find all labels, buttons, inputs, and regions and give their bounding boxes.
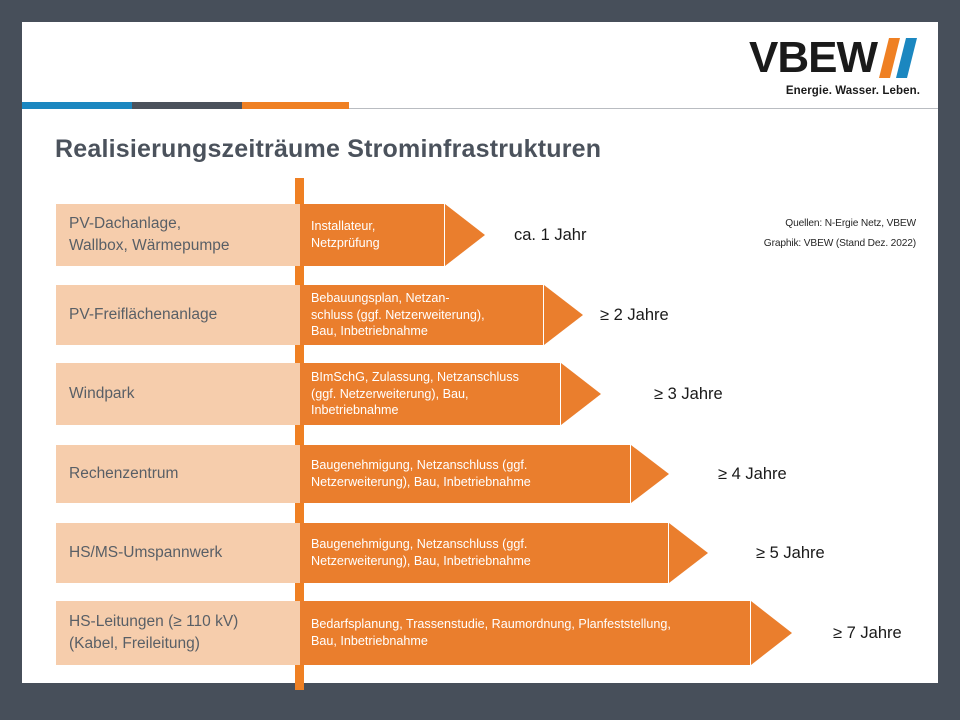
- slide-frame: VBEW Energie. Wasser. Leben. Realisierun…: [0, 0, 960, 720]
- row-duration-hs-leitungen: ≥ 7 Jahre: [833, 601, 902, 665]
- row-duration-pv-dachanlage: ca. 1 Jahr: [514, 204, 586, 266]
- row-arrow-hs-ms-umspannwerk: Baugenehmigung, Netzanschluss (ggf. Netz…: [300, 523, 668, 583]
- row-arrow-pv-dachanlage: Installateur, Netzprüfung: [300, 204, 444, 266]
- row-duration-windpark: ≥ 3 Jahre: [654, 363, 723, 425]
- arrow-step-line-3: Bau, Inbetriebnahme: [311, 323, 485, 340]
- row-label-pv-freiflaechenanlage: PV-Freiflächenanlage: [56, 285, 300, 345]
- arrow-step-line-2: (ggf. Netzerweiterung), Bau,: [311, 386, 519, 403]
- arrow-step-line-1: BImSchG, Zulassung, Netzanschluss: [311, 369, 519, 386]
- arrow-step-line-2: Netzerweiterung), Bau, Inbetriebnahme: [311, 474, 531, 491]
- row-duration-pv-freiflaechenanlage: ≥ 2 Jahre: [600, 285, 669, 345]
- row-label-rechenzentrum: Rechenzentrum: [56, 445, 300, 503]
- row-arrow-pv-freiflaechenanlage: Bebauungsplan, Netzan- schluss (ggf. Net…: [300, 285, 543, 345]
- row-label-pv-dachanlage: PV-Dachanlage, Wallbox, Wärmepumpe: [56, 204, 300, 266]
- row-label-line-1: Windpark: [69, 383, 134, 405]
- source-line-1: Quellen: N-Ergie Netz, VBEW: [596, 214, 916, 234]
- timeline-row: PV-Freiflächenanlage Bebauungsplan, Netz…: [22, 285, 938, 345]
- row-arrow-hs-leitungen: Bedarfsplanung, Trassenstudie, Raumordnu…: [300, 601, 750, 665]
- arrow-head-icon: [561, 363, 601, 425]
- arrow-head-icon: [631, 445, 669, 503]
- row-label-line-2: Wallbox, Wärmepumpe: [69, 235, 230, 257]
- source-note: Quellen: N-Ergie Netz, VBEW Graphik: VBE…: [596, 214, 916, 254]
- row-label-line-1: HS-Leitungen (≥ 110 kV): [69, 611, 238, 633]
- row-label-hs-leitungen: HS-Leitungen (≥ 110 kV) (Kabel, Freileit…: [56, 601, 300, 665]
- arrow-step-line-1: Bebauungsplan, Netzan-: [311, 290, 485, 307]
- timeline-diagram: PV-Dachanlage, Wallbox, Wärmepumpe Insta…: [22, 22, 938, 683]
- timeline-row: HS-Leitungen (≥ 110 kV) (Kabel, Freileit…: [22, 601, 938, 665]
- arrow-head-icon: [544, 285, 583, 345]
- arrow-step-line-2: schluss (ggf. Netzerweiterung),: [311, 307, 485, 324]
- row-label-windpark: Windpark: [56, 363, 300, 425]
- arrow-step-line-1: Baugenehmigung, Netzanschluss (ggf.: [311, 457, 531, 474]
- arrow-step-line-2: Netzprüfung: [311, 235, 380, 252]
- timeline-row: Rechenzentrum Baugenehmigung, Netzanschl…: [22, 445, 938, 503]
- row-label-line-1: HS/MS-Umspannwerk: [69, 542, 222, 564]
- arrow-head-icon: [669, 523, 708, 583]
- arrow-step-line-3: Inbetriebnahme: [311, 402, 519, 419]
- row-label-hs-ms-umspannwerk: HS/MS-Umspannwerk: [56, 523, 300, 583]
- arrow-step-line-1: Baugenehmigung, Netzanschluss (ggf.: [311, 536, 531, 553]
- row-label-line-1: Rechenzentrum: [69, 463, 178, 485]
- slide-canvas: VBEW Energie. Wasser. Leben. Realisierun…: [22, 22, 938, 683]
- arrow-step-line-1: Installateur,: [311, 218, 380, 235]
- row-arrow-rechenzentrum: Baugenehmigung, Netzanschluss (ggf. Netz…: [300, 445, 630, 503]
- timeline-row: Windpark BImSchG, Zulassung, Netzanschlu…: [22, 363, 938, 425]
- row-duration-rechenzentrum: ≥ 4 Jahre: [718, 445, 787, 503]
- arrow-head-icon: [751, 601, 792, 665]
- row-label-line-1: PV-Dachanlage,: [69, 213, 230, 235]
- source-line-2: Graphik: VBEW (Stand Dez. 2022): [596, 234, 916, 254]
- arrow-head-icon: [445, 204, 485, 266]
- row-arrow-windpark: BImSchG, Zulassung, Netzanschluss (ggf. …: [300, 363, 560, 425]
- arrow-step-line-2: Bau, Inbetriebnahme: [311, 633, 671, 650]
- row-label-line-2: (Kabel, Freileitung): [69, 633, 238, 655]
- arrow-step-line-1: Bedarfsplanung, Trassenstudie, Raumordnu…: [311, 616, 671, 633]
- row-label-line-1: PV-Freiflächenanlage: [69, 304, 217, 326]
- arrow-step-line-2: Netzerweiterung), Bau, Inbetriebnahme: [311, 553, 531, 570]
- timeline-row: HS/MS-Umspannwerk Baugenehmigung, Netzan…: [22, 523, 938, 583]
- row-duration-hs-ms-umspannwerk: ≥ 5 Jahre: [756, 523, 825, 583]
